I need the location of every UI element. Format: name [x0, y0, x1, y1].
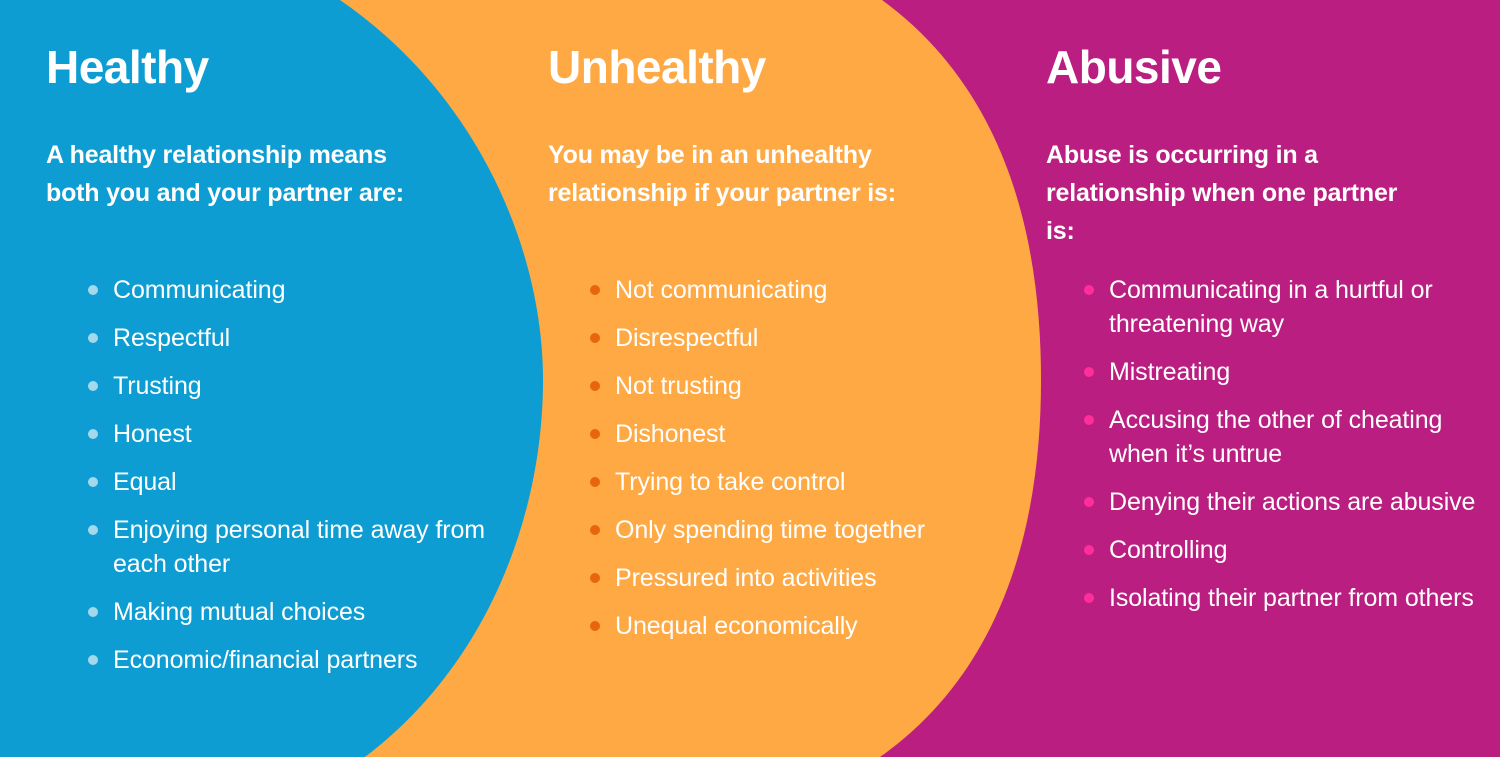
bullet-dot-icon — [88, 655, 98, 665]
bullet-dot-icon — [590, 621, 600, 631]
list-item-label: Not communicating — [615, 276, 827, 304]
list-item: Disrespectful — [590, 321, 1010, 355]
list-item: Respectful — [88, 321, 508, 355]
list-item: Dishonest — [590, 417, 1010, 451]
list-item-label: Respectful — [113, 324, 230, 352]
list-item: Accusing the other of cheating when it’s… — [1084, 403, 1494, 471]
abusive-intro: Abuse is occurring in a relationship whe… — [1046, 136, 1406, 250]
list-item-label: Mistreating — [1109, 358, 1230, 386]
bullet-dot-icon — [88, 525, 98, 535]
bullet-dot-icon — [1084, 593, 1094, 603]
abusive-bullet-list: Communicating in a hurtful or threatenin… — [1084, 273, 1494, 629]
list-item-label: Pressured into activities — [615, 564, 877, 592]
bullet-dot-icon — [590, 333, 600, 343]
bullet-dot-icon — [590, 381, 600, 391]
list-item: Equal — [88, 465, 508, 499]
bullet-dot-icon — [1084, 367, 1094, 377]
list-item-label: Accusing the other of cheating when it’s… — [1109, 406, 1442, 468]
list-item-label: Trying to take control — [615, 468, 845, 496]
list-item-label: Honest — [113, 420, 192, 448]
column-unhealthy: Unhealthy You may be in an unhealthy rel… — [546, 0, 1016, 757]
list-item: Communicating — [88, 273, 508, 307]
unhealthy-intro: You may be in an unhealthy relationship … — [548, 136, 938, 212]
list-item: Enjoying personal time away from each ot… — [88, 513, 508, 581]
list-item: Trusting — [88, 369, 508, 403]
list-item-label: Disrespectful — [615, 324, 758, 352]
list-item: Not trusting — [590, 369, 1010, 403]
unhealthy-bullet-list: Not communicating Disrespectful Not trus… — [590, 273, 1010, 657]
list-item: Economic/financial partners — [88, 643, 508, 677]
abusive-title: Abusive — [1046, 44, 1221, 90]
list-item-label: Only spending time together — [615, 516, 925, 544]
list-item: Only spending time together — [590, 513, 1010, 547]
list-item-label: Enjoying personal time away from each ot… — [113, 516, 485, 578]
healthy-intro: A healthy relationship means both you an… — [46, 136, 406, 212]
list-item: Pressured into activities — [590, 561, 1010, 595]
infographic-canvas: Healthy A healthy relationship means bot… — [0, 0, 1500, 757]
column-healthy: Healthy A healthy relationship means bot… — [0, 0, 520, 757]
list-item-label: Dishonest — [615, 420, 725, 448]
bullet-dot-icon — [1084, 497, 1094, 507]
column-abusive: Abusive Abuse is occurring in a relation… — [1044, 0, 1500, 757]
list-item: Trying to take control — [590, 465, 1010, 499]
unhealthy-title: Unhealthy — [548, 44, 766, 90]
list-item-label: Trusting — [113, 372, 202, 400]
bullet-dot-icon — [88, 381, 98, 391]
list-item: Communicating in a hurtful or threatenin… — [1084, 273, 1494, 341]
bullet-dot-icon — [590, 429, 600, 439]
bullet-dot-icon — [590, 525, 600, 535]
list-item: Controlling — [1084, 533, 1494, 567]
bullet-dot-icon — [88, 429, 98, 439]
list-item-label: Isolating their partner from others — [1109, 584, 1474, 612]
bullet-dot-icon — [590, 477, 600, 487]
bullet-dot-icon — [88, 607, 98, 617]
list-item-label: Making mutual choices — [113, 598, 365, 626]
list-item: Denying their actions are abusive — [1084, 485, 1494, 519]
list-item-label: Not trusting — [615, 372, 742, 400]
bullet-dot-icon — [590, 573, 600, 583]
bullet-dot-icon — [1084, 415, 1094, 425]
list-item-label: Unequal economically — [615, 612, 858, 640]
bullet-dot-icon — [1084, 285, 1094, 295]
healthy-title: Healthy — [46, 44, 209, 90]
bullet-dot-icon — [88, 477, 98, 487]
bullet-dot-icon — [1084, 545, 1094, 555]
bullet-dot-icon — [88, 333, 98, 343]
list-item-label: Communicating in a hurtful or threatenin… — [1109, 276, 1433, 338]
list-item: Making mutual choices — [88, 595, 508, 629]
list-item-label: Denying their actions are abusive — [1109, 488, 1475, 516]
list-item-label: Equal — [113, 468, 176, 496]
list-item-label: Controlling — [1109, 536, 1227, 564]
bullet-dot-icon — [590, 285, 600, 295]
list-item: Not communicating — [590, 273, 1010, 307]
bullet-dot-icon — [88, 285, 98, 295]
list-item: Mistreating — [1084, 355, 1494, 389]
list-item-label: Economic/financial partners — [113, 646, 417, 674]
healthy-bullet-list: Communicating Respectful Trusting Honest… — [88, 273, 508, 691]
list-item-label: Communicating — [113, 276, 285, 304]
list-item: Honest — [88, 417, 508, 451]
list-item: Isolating their partner from others — [1084, 581, 1494, 615]
list-item: Unequal economically — [590, 609, 1010, 643]
